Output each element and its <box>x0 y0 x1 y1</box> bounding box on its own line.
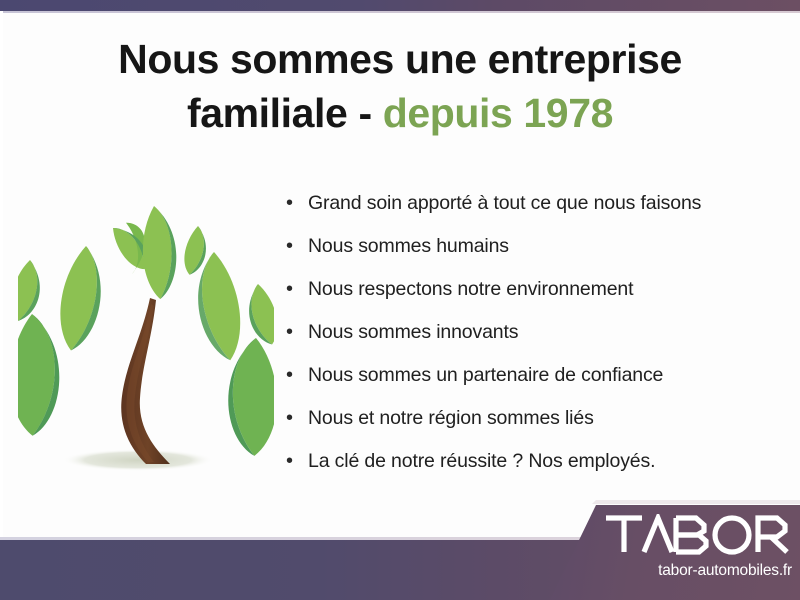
list-item-label: La clé de notre réussite ? Nos employés. <box>308 450 655 473</box>
list-item-label: Grand soin apporté à tout ce que nous fa… <box>308 192 701 215</box>
list-item: • Nous sommes innovants <box>286 321 786 364</box>
list-item: • Nous et notre région sommes liés <box>286 407 786 450</box>
page-title: Nous sommes une entreprise familiale - d… <box>60 32 740 140</box>
bullet-dot-icon: • <box>286 451 308 471</box>
left-edge-strip <box>0 11 3 540</box>
leaf-far-right <box>236 282 274 348</box>
leaf-far-left <box>18 258 53 324</box>
leaf-upper-left <box>46 243 117 354</box>
bullet-dot-icon: • <box>286 279 308 299</box>
tree-trunk <box>121 298 170 464</box>
bullet-dot-icon: • <box>286 408 308 428</box>
slide-canvas: Nous sommes une entreprise familiale - d… <box>0 0 800 600</box>
list-item: • Nous sommes humains <box>286 235 786 278</box>
top-accent-hairline <box>0 11 800 13</box>
list-item-label: Nous sommes humains <box>308 235 509 258</box>
list-item: • La clé de notre réussite ? Nos employé… <box>286 450 786 493</box>
list-item: • Nous respectons notre environnement <box>286 278 786 321</box>
headline-line-2-accent: depuis 1978 <box>383 90 613 136</box>
bullet-dot-icon: • <box>286 322 308 342</box>
headline-line-1: Nous sommes une entreprise <box>118 36 682 82</box>
list-item-label: Nous sommes innovants <box>308 321 518 344</box>
headline-line-2-dark: familiale - <box>187 90 383 136</box>
list-item-label: Nous sommes un partenaire de confiance <box>308 364 663 387</box>
bullet-dot-icon: • <box>286 193 308 213</box>
tree-illustration <box>18 188 274 492</box>
top-accent-bar <box>0 0 800 11</box>
tabor-logo[interactable] <box>604 514 792 556</box>
logo-tagline[interactable]: tabor-automobiles.fr <box>604 562 792 580</box>
bullet-list: • Grand soin apporté à tout ce que nous … <box>286 192 786 493</box>
logo-block-hairline <box>550 500 800 504</box>
list-item-label: Nous et notre région sommes liés <box>308 407 594 430</box>
bullet-dot-icon: • <box>286 365 308 385</box>
tabor-wordmark-icon <box>604 514 792 556</box>
bullet-dot-icon: • <box>286 236 308 256</box>
list-item: • Nous sommes un partenaire de confiance <box>286 364 786 407</box>
list-item: • Grand soin apporté à tout ce que nous … <box>286 192 786 235</box>
tree-svg <box>18 188 274 492</box>
list-item-label: Nous respectons notre environnement <box>308 278 633 301</box>
leaf-top-center <box>137 205 181 300</box>
